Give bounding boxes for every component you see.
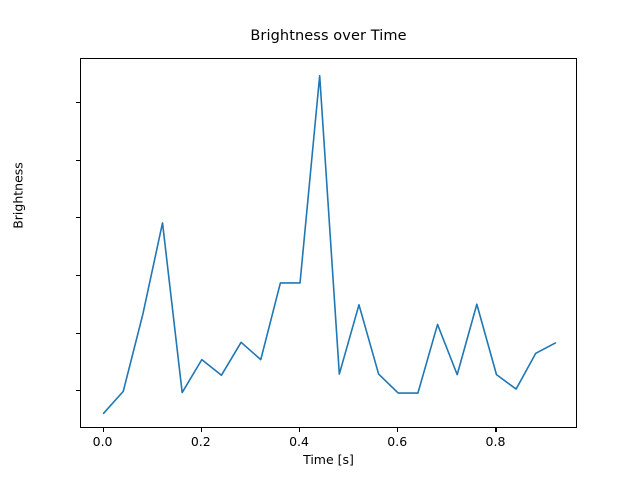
y-tick-mark <box>76 217 80 218</box>
x-tick-label: 0.6 <box>387 434 407 449</box>
x-tick-mark <box>103 428 104 432</box>
line-series-svg <box>81 59 578 429</box>
x-tick-label: 0.0 <box>93 434 113 449</box>
brightness-line-series <box>104 76 556 414</box>
x-axis-label: Time [s] <box>80 452 577 467</box>
x-tick-label: 0.8 <box>486 434 506 449</box>
chart-title: Brightness over Time <box>80 28 577 44</box>
matplotlib-figure: Brightness over Time Brightness Time [s]… <box>0 0 640 480</box>
y-tick-mark <box>76 160 80 161</box>
y-tick-mark <box>76 275 80 276</box>
plot-axes <box>80 58 577 428</box>
x-tick-mark <box>201 428 202 432</box>
x-tick-label: 0.4 <box>289 434 309 449</box>
x-tick-mark <box>299 428 300 432</box>
x-tick-label: 0.2 <box>191 434 211 449</box>
y-tick-mark <box>76 102 80 103</box>
y-tick-mark <box>76 390 80 391</box>
x-tick-mark <box>495 428 496 432</box>
y-axis-label: Brightness <box>11 116 26 276</box>
x-tick-mark <box>397 428 398 432</box>
y-tick-mark <box>76 333 80 334</box>
